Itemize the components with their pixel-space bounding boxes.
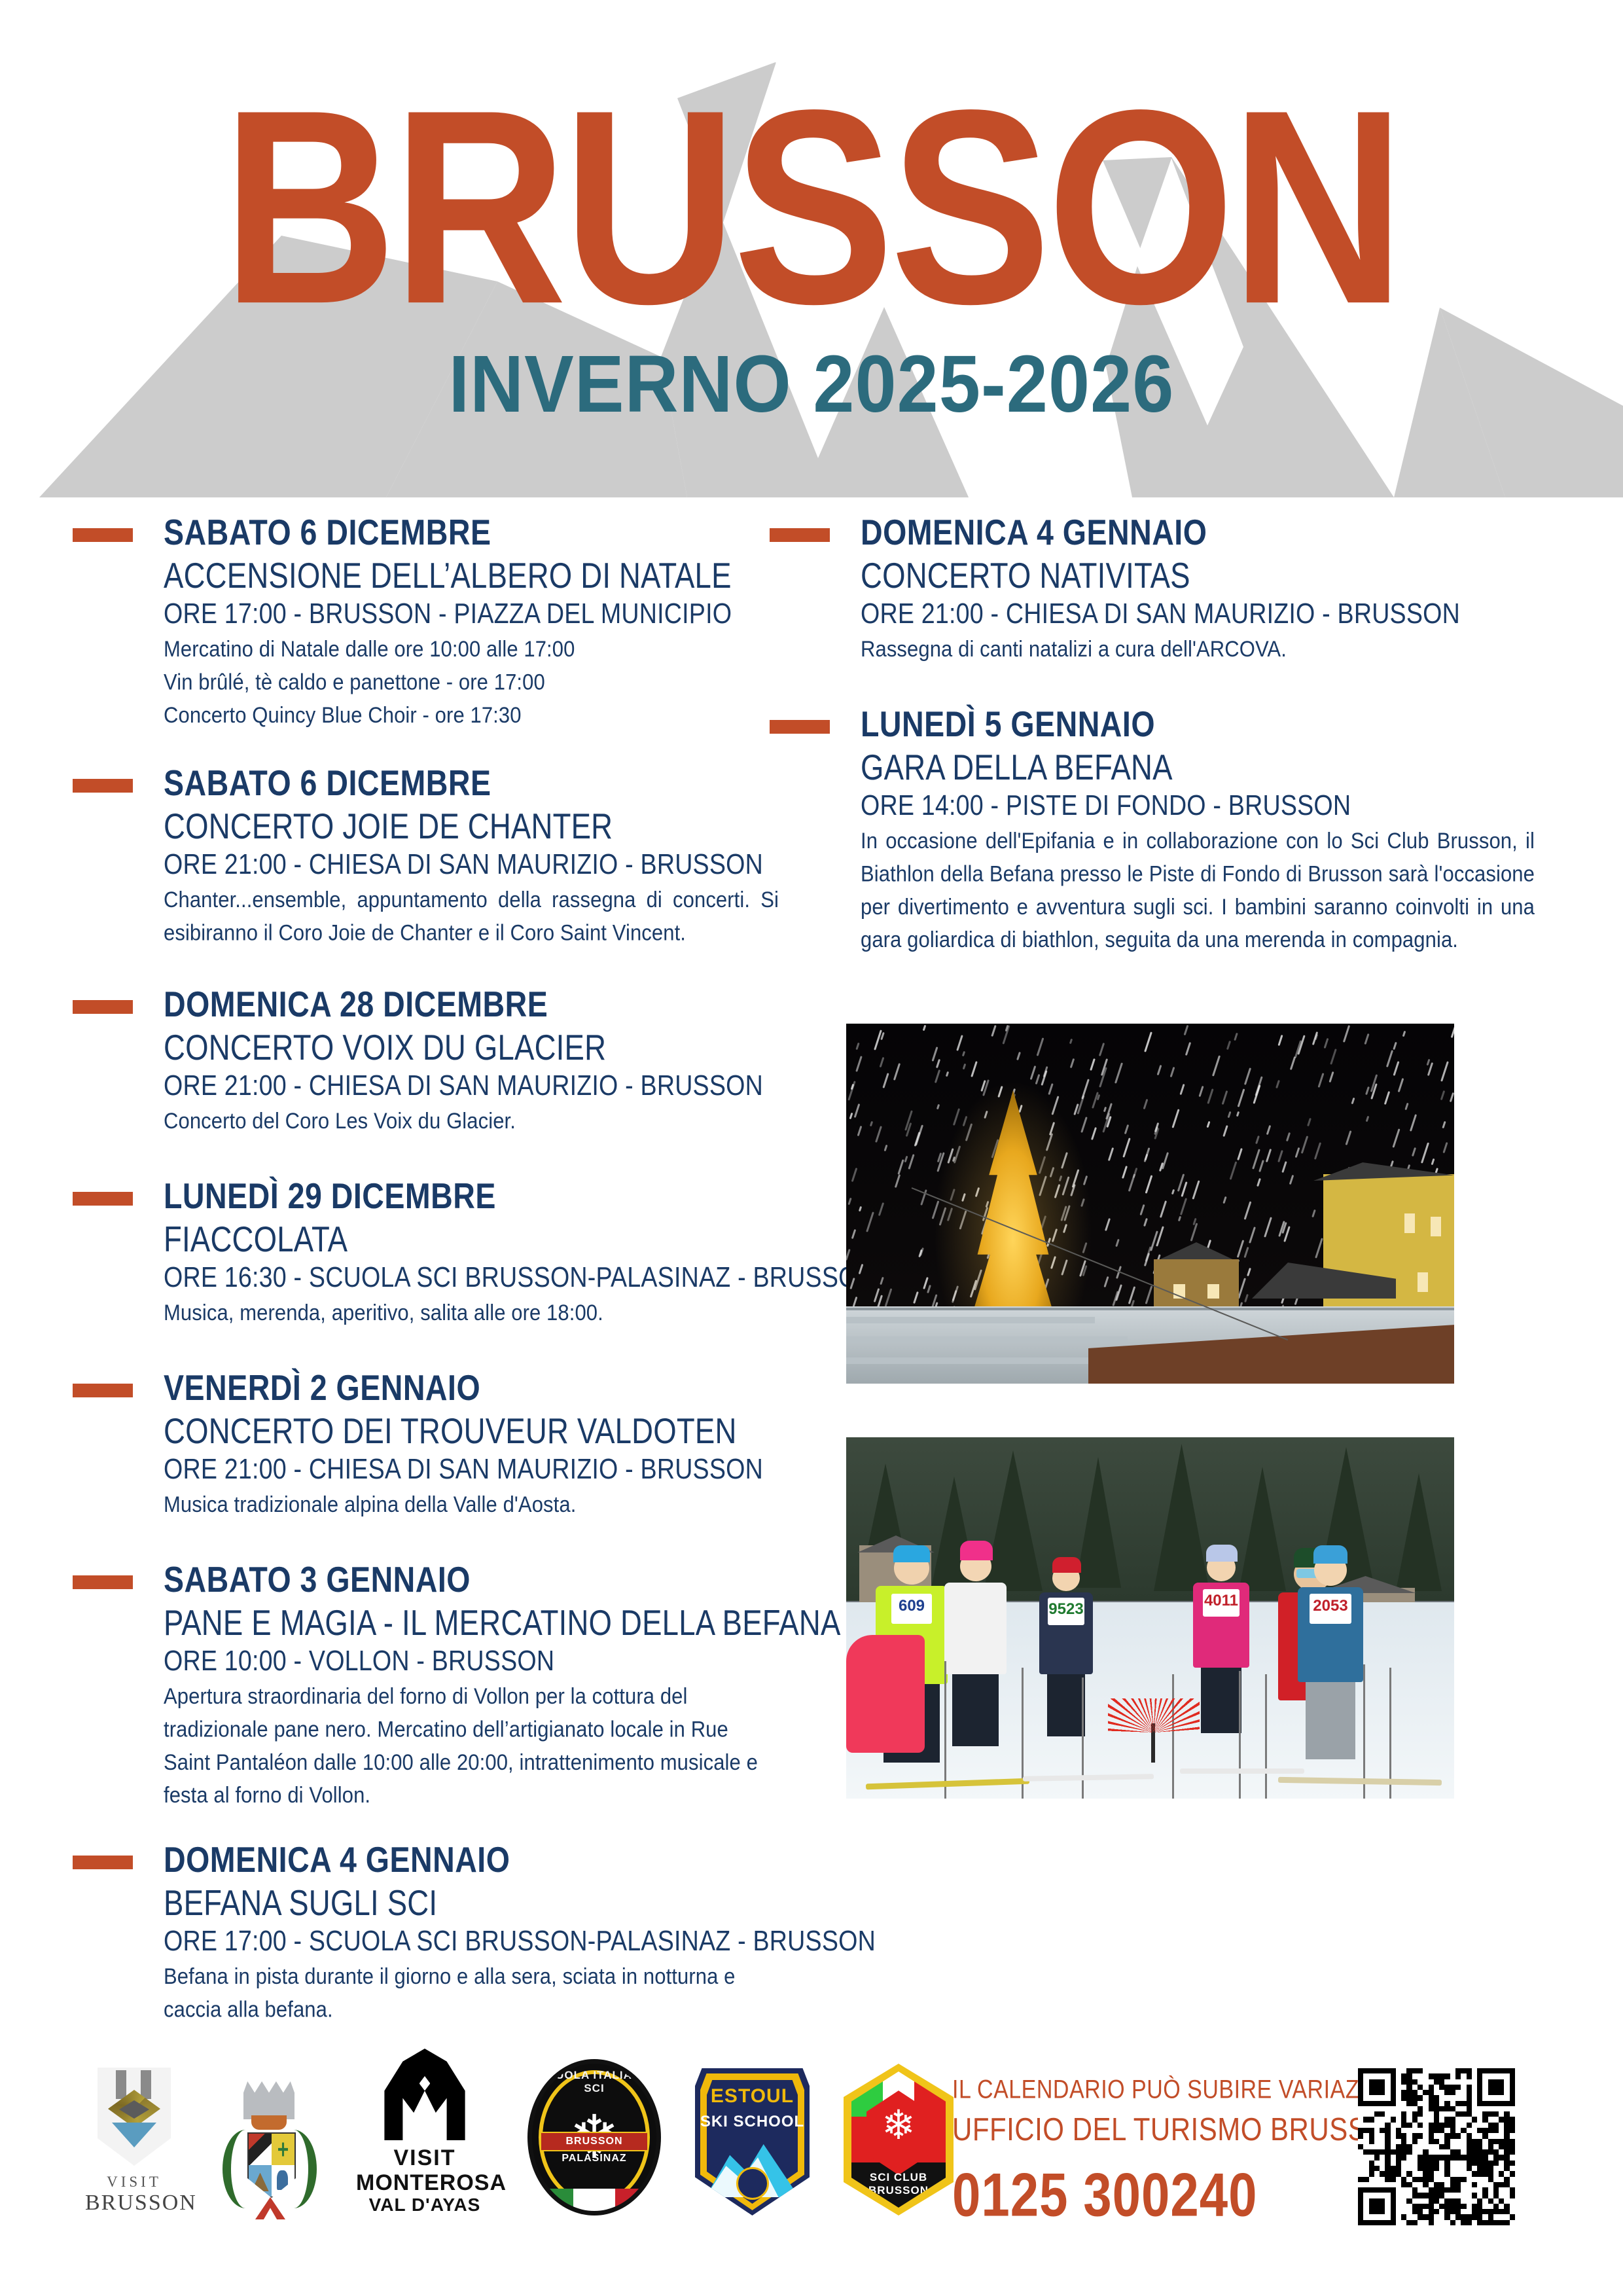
event-description: Musica, merenda, aperitivo, salita alle …	[164, 1296, 779, 1329]
event-where: ORE 21:00 - CHIESA DI SAN MAURIZIO - BRU…	[164, 848, 773, 882]
fence-rail	[846, 1308, 1454, 1310]
event-description: In occasione dell'Epifania e in collabor…	[861, 824, 1535, 956]
race-bib: 9523	[1048, 1598, 1084, 1625]
event-title: GARA DELLA BEFANA	[861, 745, 1528, 789]
event-date: DOMENICA 4 GENNAIO	[164, 1838, 773, 1882]
child-skier: 9523	[1039, 1565, 1093, 1736]
dash-marker-icon	[770, 528, 830, 542]
sci-club-brusson-logo: ❄ SCI CLUB BRUSSON	[844, 2064, 954, 2215]
race-bib: 609	[891, 1594, 932, 1624]
monterosa-line2: MONTEROSA	[356, 2171, 493, 2195]
dash-marker-icon	[73, 528, 133, 542]
event-title: CONCERTO DEI TROUVEUR VALDOTEN	[164, 1409, 773, 1452]
estoul-ski-school-logo: ESTOUL SKI SCHOOL	[695, 2068, 810, 2215]
estoul-line1: ESTOUL	[695, 2085, 810, 2108]
event-date: SABATO 3 GENNAIO	[164, 1558, 773, 1602]
poster-header: BRUSSON INVERNO 2025-2026	[0, 0, 1623, 497]
house-window	[1431, 1217, 1441, 1236]
event-description: Mercatino di Natale dalle ore 10:00 alle…	[164, 632, 779, 731]
events-column-left: SABATO 6 DICEMBRE ACCENSIONE DELL’ALBERO…	[65, 511, 779, 2037]
dash-marker-icon	[73, 1384, 133, 1397]
visit-brusson-line1: VISIT	[85, 2174, 183, 2191]
event-date: LUNEDÌ 5 GENNAIO	[861, 702, 1528, 746]
event-date: DOMENICA 4 GENNAIO	[861, 511, 1528, 554]
event-description-line: Mercatino di Natale dalle ore 10:00 alle…	[164, 632, 779, 665]
event-item: VENERDÌ 2 GENNAIO CONCERTO DEI TROUVEUR …	[65, 1366, 779, 1517]
race-bib: 2053	[1310, 1594, 1351, 1624]
event-title: CONCERTO NATIVITAS	[861, 554, 1528, 597]
event-where: ORE 21:00 - CHIESA DI SAN MAURIZIO - BRU…	[164, 1452, 773, 1486]
event-description: Concerto del Coro Les Voix du Glacier.	[164, 1104, 779, 1137]
event-item: DOMENICA 4 GENNAIO BEFANA SUGLI SCI ORE …	[65, 1838, 779, 2018]
page-title: BRUSSON	[0, 69, 1623, 345]
sis-band-text: BRUSSON PALASINAZ	[541, 2132, 647, 2151]
event-date: LUNEDÌ 29 DICEMBRE	[164, 1174, 773, 1218]
italian-flag-icon	[532, 2189, 656, 2211]
event-date: VENERDÌ 2 GENNAIO	[164, 1366, 773, 1410]
adult-red-jacket	[846, 1635, 925, 1753]
estoul-line2: SKI SCHOOL	[695, 2113, 810, 2131]
event-item: LUNEDÌ 29 DICEMBRE FIACCOLATA ORE 16:30 …	[65, 1174, 779, 1325]
event-title: ACCENSIONE DELL’ALBERO DI NATALE	[164, 554, 773, 597]
children-cross-country-ski-photo: 609 9523 4011 2053	[846, 1437, 1454, 1799]
sci-club-label: SCI CLUB BRUSSON	[851, 2171, 946, 2197]
event-description: Musica tradizionale alpina della Valle d…	[164, 1488, 779, 1520]
event-date: DOMENICA 28 DICEMBRE	[164, 982, 773, 1026]
patterned-beanie	[1206, 1545, 1238, 1562]
ski-pole	[944, 1661, 946, 1799]
event-item: DOMENICA 4 GENNAIO CONCERTO NATIVITAS OR…	[762, 511, 1535, 662]
event-item: LUNEDÌ 5 GENNAIO GARA DELLA BEFANA ORE 1…	[762, 702, 1535, 942]
striped-beanie	[1313, 1545, 1347, 1564]
christmas-tree-night-photo	[846, 1024, 1454, 1384]
tourism-office-name: UFFICIO DEL TURISMO BRUSSON	[952, 2111, 1358, 2148]
pink-pompom-hat	[960, 1541, 993, 1560]
dash-marker-icon	[73, 1856, 133, 1869]
event-date: SABATO 6 DICEMBRE	[164, 761, 773, 805]
visit-monterosa-val-dayas-logo: VISIT MONTEROSA VAL D'AYAS	[356, 2049, 493, 2215]
event-description-line: Concerto Quincy Blue Choir - ore 17:30	[164, 698, 779, 731]
house-window	[1404, 1213, 1415, 1233]
red-marker-fan	[1108, 1700, 1200, 1763]
event-title: CONCERTO VOIX DU GLACIER	[164, 1026, 773, 1069]
snow-step	[846, 1336, 1128, 1343]
race-bib: 4011	[1203, 1589, 1240, 1617]
poster-footer: VISIT BRUSSON	[0, 2042, 1623, 2296]
calendar-disclaimer: IL CALENDARIO PUÒ SUBIRE VARIAZIONI.	[952, 2075, 1358, 2105]
blue-headband	[893, 1545, 930, 1562]
event-where: ORE 14:00 - PISTE DI FONDO - BRUSSON	[861, 789, 1528, 823]
event-date: SABATO 6 DICEMBRE	[164, 511, 773, 554]
red-beanie	[1052, 1557, 1081, 1573]
monterosa-line1: VISIT	[356, 2145, 493, 2171]
event-where: ORE 21:00 - CHIESA DI SAN MAURIZIO - BRU…	[861, 597, 1528, 631]
tourism-office-phone[interactable]: 0125 300240	[952, 2159, 1358, 2231]
snow-step	[846, 1317, 1095, 1323]
event-item: SABATO 3 GENNAIO PANE E MAGIA - IL MERCA…	[65, 1558, 779, 1797]
event-item: SABATO 6 DICEMBRE ACCENSIONE DELL’ALBERO…	[65, 511, 779, 721]
event-where: ORE 17:00 - SCUOLA SCI BRUSSON-PALASINAZ…	[164, 1924, 773, 1958]
dash-marker-icon	[73, 779, 133, 793]
event-where: ORE 16:30 - SCUOLA SCI BRUSSON-PALASINAZ…	[164, 1261, 773, 1295]
event-description: Chanter...ensemble, appuntamento della r…	[164, 883, 779, 949]
event-title: PANE E MAGIA - IL MERCATINO DELLA BEFANA	[164, 1601, 773, 1644]
event-title: FIACCOLATA	[164, 1217, 773, 1261]
visit-brusson-logo: VISIT BRUSSON	[85, 2068, 183, 2215]
event-where: ORE 10:00 - VOLLON - BRUSSON	[164, 1644, 773, 1678]
dash-marker-icon	[73, 1575, 133, 1589]
event-where: ORE 21:00 - CHIESA DI SAN MAURIZIO - BRU…	[164, 1069, 773, 1103]
event-item: DOMENICA 28 DICEMBRE CONCERTO VOIX DU GL…	[65, 982, 779, 1134]
monterosa-line3: VAL D'AYAS	[356, 2195, 493, 2215]
dash-marker-icon	[73, 1192, 133, 1206]
event-title: CONCERTO JOIE DE CHANTER	[164, 804, 773, 848]
page-subtitle: INVERNO 2025-2026	[0, 344, 1623, 425]
ski-pole	[1082, 1677, 1084, 1799]
dash-marker-icon	[770, 720, 830, 734]
ski-pole	[1239, 1671, 1241, 1799]
qr-code[interactable]	[1358, 2068, 1515, 2225]
house-window	[1207, 1284, 1219, 1299]
comune-di-brusson-coat-of-arms	[217, 2081, 322, 2215]
scuola-italiana-sci-brusson-palasinaz-logo: SCUOLA ITALIANA SCI ❄ BRUSSON PALASINAZ	[527, 2059, 661, 2215]
events-column-right: DOMENICA 4 GENNAIO CONCERTO NATIVITAS OR…	[762, 511, 1535, 960]
contact-block: IL CALENDARIO PUÒ SUBIRE VARIAZIONI. UFF…	[952, 2075, 1358, 2219]
child-skier: 4011	[1193, 1554, 1249, 1733]
ski-pole	[1265, 1674, 1267, 1799]
event-item: SABATO 6 DICEMBRE CONCERTO JOIE DE CHANT…	[65, 761, 779, 942]
dash-marker-icon	[73, 1000, 133, 1014]
ski	[1180, 1768, 1304, 1774]
event-description: Befana in pista durante il giorno e alla…	[164, 1960, 779, 2026]
event-description: Apertura straordinaria del forno di Voll…	[164, 1679, 779, 1812]
event-description: Rassegna di canti natalizi a cura dell'A…	[861, 632, 1535, 665]
event-description-line: Vin brûlé, tè caldo e panettone - ore 17…	[164, 665, 779, 698]
edelweiss-icon: ❄	[882, 2106, 916, 2146]
event-where: ORE 17:00 - BRUSSON - PIAZZA DEL MUNICIP…	[164, 597, 773, 631]
sis-top-text: SCUOLA ITALIANA SCI	[532, 2069, 656, 2095]
visit-brusson-line2: BRUSSON	[85, 2191, 183, 2215]
partner-logos: VISIT BRUSSON	[85, 2049, 954, 2215]
child-skier: 2053	[1298, 1554, 1363, 1759]
child-skier	[944, 1551, 1007, 1746]
event-title: BEFANA SUGLI SCI	[164, 1881, 773, 1924]
house-window	[1418, 1272, 1428, 1292]
